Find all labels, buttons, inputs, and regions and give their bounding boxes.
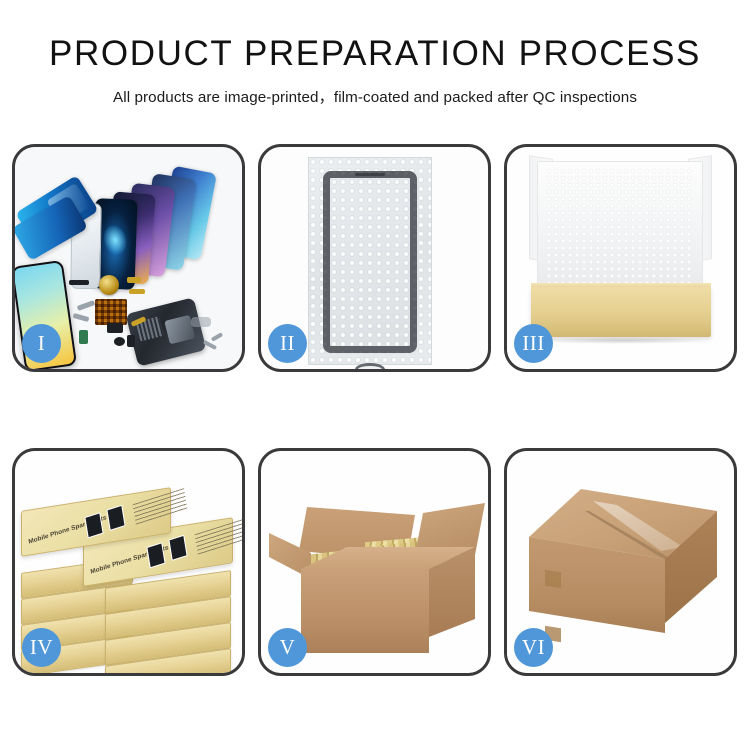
- step-badge-4: IV: [22, 628, 61, 667]
- earpiece-part: [69, 280, 89, 285]
- gold-connector-part: [127, 277, 141, 283]
- carton-handle-tab-top: [545, 570, 561, 589]
- step-badge-1: I: [22, 324, 61, 363]
- step-badge-3: III: [514, 324, 553, 363]
- home-button-outline: [355, 363, 385, 369]
- process-step-grid: I II III: [12, 144, 738, 680]
- button-part: [127, 335, 135, 347]
- vibration-motor-part: [99, 275, 119, 295]
- box-label-thumb-2: [168, 535, 187, 561]
- step-badge-6: VI: [514, 628, 553, 667]
- carton-front-panel: [301, 569, 429, 653]
- process-step-1[interactable]: I: [12, 144, 245, 372]
- product-preparation-infographic: PRODUCT PREPARATION PROCESS All products…: [0, 0, 750, 750]
- process-step-2[interactable]: II: [258, 144, 491, 372]
- foam-padding-sheet: [537, 161, 703, 293]
- box-shadow: [535, 337, 711, 344]
- tool-part: [191, 317, 211, 327]
- step-badge-5: V: [268, 628, 307, 667]
- gold-flex-part: [129, 289, 145, 294]
- process-step-6[interactable]: VI: [504, 448, 737, 676]
- kraft-box-stack: Mobile Phone Spare Parts Mobile Phone Sp…: [21, 469, 237, 659]
- box-label-thumb-3: [84, 512, 103, 538]
- process-step-3[interactable]: III: [504, 144, 737, 372]
- camera-module-part: [107, 323, 123, 333]
- page-subtitle: All products are image-printed，film-coat…: [0, 85, 750, 107]
- pcb-part: [79, 330, 88, 344]
- box-label-thumb-4: [106, 505, 125, 531]
- page-title: PRODUCT PREPARATION PROCESS: [0, 34, 750, 74]
- speaker-part: [114, 337, 125, 346]
- box-spec-lines-lower: [195, 518, 242, 555]
- wrapped-phone-screen: [323, 171, 417, 353]
- flex-cable-grid-part: [95, 299, 127, 325]
- kraft-box-body: [531, 287, 711, 337]
- header: PRODUCT PREPARATION PROCESS All products…: [0, 0, 750, 107]
- process-step-4[interactable]: Mobile Phone Spare Parts Mobile Phone Sp…: [12, 448, 245, 676]
- process-step-5[interactable]: V: [258, 448, 491, 676]
- box-spec-lines-upper: [133, 488, 188, 525]
- step-badge-2: II: [268, 324, 307, 363]
- box-label-thumb-1: [146, 542, 165, 568]
